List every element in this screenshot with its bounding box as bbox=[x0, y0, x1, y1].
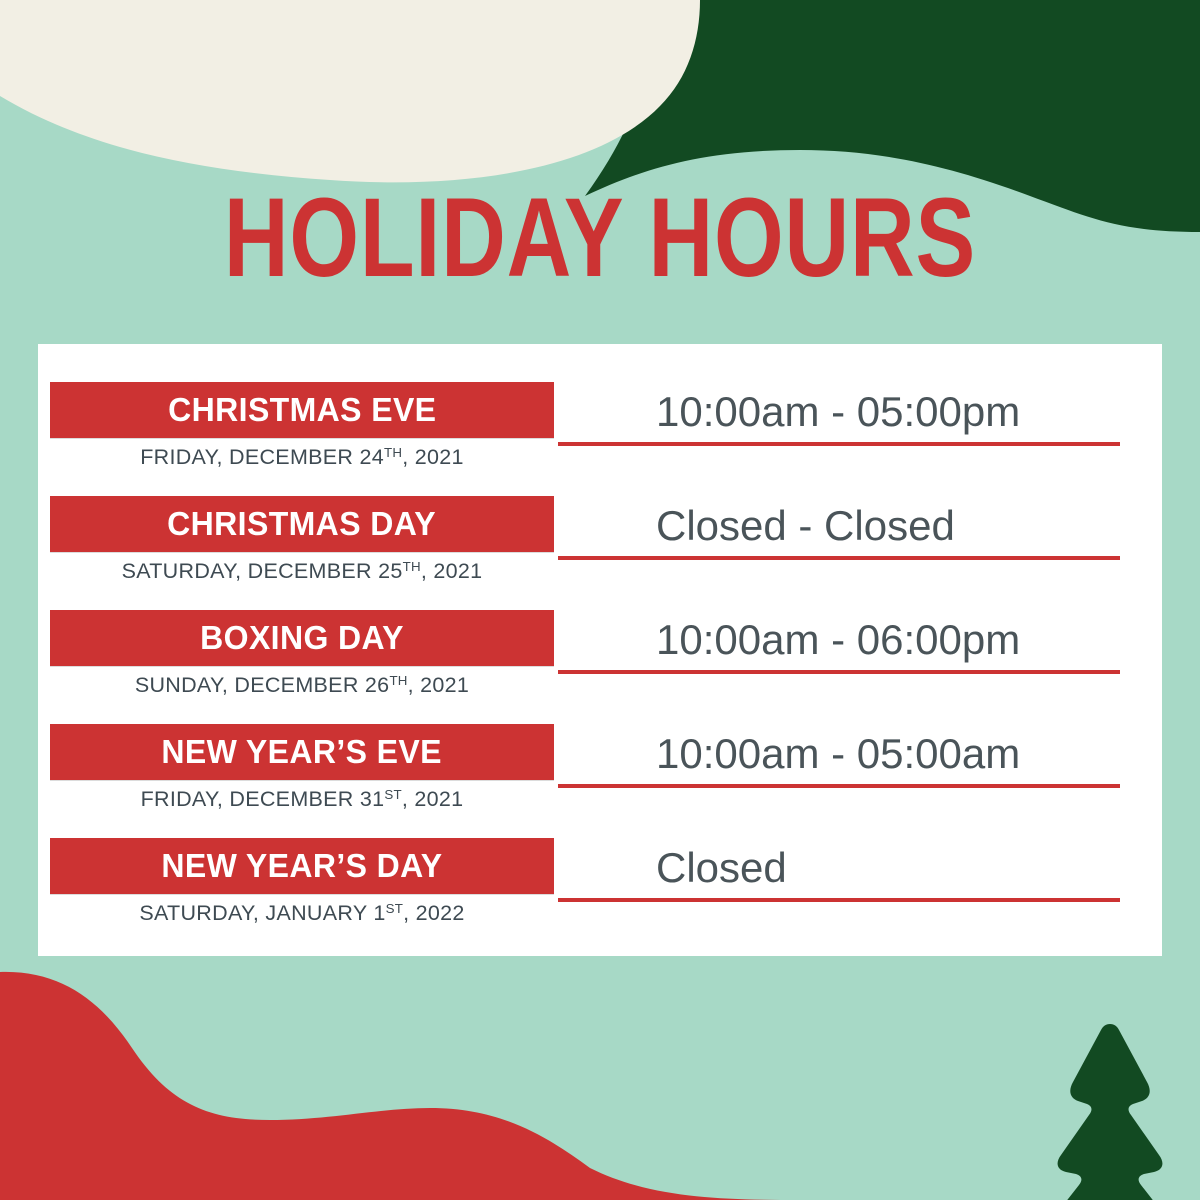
day-name-band: CHRISTMAS EVE bbox=[50, 382, 554, 438]
hours-value: 10:00am - 05:00pm bbox=[558, 384, 1150, 440]
table-row: CHRISTMAS EVE FRIDAY, DECEMBER 24TH, 202… bbox=[38, 382, 1162, 496]
band-separator bbox=[50, 438, 554, 439]
day-date-ordinal: TH bbox=[384, 445, 402, 460]
row-day-block: BOXING DAY SUNDAY, DECEMBER 26TH, 2021 bbox=[50, 610, 554, 698]
band-separator bbox=[50, 552, 554, 553]
row-day-block: CHRISTMAS DAY SATURDAY, DECEMBER 25TH, 2… bbox=[50, 496, 554, 584]
day-date-year: , 2021 bbox=[402, 787, 464, 811]
holiday-hours-poster: HOLIDAY HOURS CHRISTMAS EVE FRIDAY, DECE… bbox=[0, 0, 1200, 1200]
table-row: NEW YEAR’S EVE FRIDAY, DECEMBER 31ST, 20… bbox=[38, 724, 1162, 838]
day-name: CHRISTMAS EVE bbox=[168, 391, 436, 429]
day-date-weekday: FRIDAY, DECEMBER 31 bbox=[141, 787, 385, 811]
day-date-ordinal: ST bbox=[386, 901, 403, 916]
day-name-band: NEW YEAR’S EVE bbox=[50, 724, 554, 780]
row-hours-block: Closed - Closed bbox=[558, 498, 1150, 560]
table-row: CHRISTMAS DAY SATURDAY, DECEMBER 25TH, 2… bbox=[38, 496, 1162, 610]
day-date: SATURDAY, JANUARY 1ST, 2022 bbox=[50, 901, 554, 926]
day-name: CHRISTMAS DAY bbox=[168, 505, 437, 543]
day-date-ordinal: TH bbox=[389, 673, 407, 688]
day-name-band: NEW YEAR’S DAY bbox=[50, 838, 554, 894]
day-date-weekday: SATURDAY, DECEMBER 25 bbox=[122, 559, 403, 583]
hours-value: 10:00am - 06:00pm bbox=[558, 612, 1150, 668]
day-name: NEW YEAR’S DAY bbox=[161, 847, 442, 885]
row-hours-block: Closed bbox=[558, 840, 1150, 902]
day-name: BOXING DAY bbox=[200, 619, 404, 657]
day-date-year: , 2022 bbox=[403, 901, 465, 925]
table-row: BOXING DAY SUNDAY, DECEMBER 26TH, 2021 1… bbox=[38, 610, 1162, 724]
hours-underline bbox=[558, 784, 1120, 788]
row-day-block: CHRISTMAS EVE FRIDAY, DECEMBER 24TH, 202… bbox=[50, 382, 554, 470]
day-date-weekday: SATURDAY, JANUARY 1 bbox=[139, 901, 385, 925]
row-hours-block: 10:00am - 05:00pm bbox=[558, 384, 1150, 446]
band-separator bbox=[50, 666, 554, 667]
hours-underline bbox=[558, 556, 1120, 560]
row-hours-block: 10:00am - 06:00pm bbox=[558, 612, 1150, 674]
day-date-ordinal: ST bbox=[384, 787, 401, 802]
band-separator bbox=[50, 780, 554, 781]
row-day-block: NEW YEAR’S DAY SATURDAY, JANUARY 1ST, 20… bbox=[50, 838, 554, 926]
hours-value: Closed bbox=[558, 840, 1150, 896]
day-date-ordinal: TH bbox=[403, 559, 421, 574]
schedule-rows: CHRISTMAS EVE FRIDAY, DECEMBER 24TH, 202… bbox=[38, 344, 1162, 952]
day-date-weekday: FRIDAY, DECEMBER 24 bbox=[140, 445, 384, 469]
day-name-band: BOXING DAY bbox=[50, 610, 554, 666]
row-hours-block: 10:00am - 05:00am bbox=[558, 726, 1150, 788]
band-separator bbox=[50, 894, 554, 895]
hours-underline bbox=[558, 898, 1120, 902]
day-date-weekday: SUNDAY, DECEMBER 26 bbox=[135, 673, 390, 697]
day-date-year: , 2021 bbox=[402, 445, 464, 469]
row-day-block: NEW YEAR’S EVE FRIDAY, DECEMBER 31ST, 20… bbox=[50, 724, 554, 812]
day-date: SUNDAY, DECEMBER 26TH, 2021 bbox=[50, 673, 554, 698]
table-row: NEW YEAR’S DAY SATURDAY, JANUARY 1ST, 20… bbox=[38, 838, 1162, 952]
hours-underline bbox=[558, 442, 1120, 446]
day-date: FRIDAY, DECEMBER 24TH, 2021 bbox=[50, 445, 554, 470]
hours-underline bbox=[558, 670, 1120, 674]
day-date-year: , 2021 bbox=[408, 673, 470, 697]
day-name-band: CHRISTMAS DAY bbox=[50, 496, 554, 552]
schedule-card: CHRISTMAS EVE FRIDAY, DECEMBER 24TH, 202… bbox=[38, 344, 1162, 956]
hours-value: Closed - Closed bbox=[558, 498, 1150, 554]
page-title: HOLIDAY HOURS bbox=[120, 178, 1080, 298]
day-name: NEW YEAR’S EVE bbox=[162, 733, 443, 771]
day-date: SATURDAY, DECEMBER 25TH, 2021 bbox=[50, 559, 554, 584]
day-date: FRIDAY, DECEMBER 31ST, 2021 bbox=[50, 787, 554, 812]
day-date-year: , 2021 bbox=[421, 559, 483, 583]
hours-value: 10:00am - 05:00am bbox=[558, 726, 1150, 782]
